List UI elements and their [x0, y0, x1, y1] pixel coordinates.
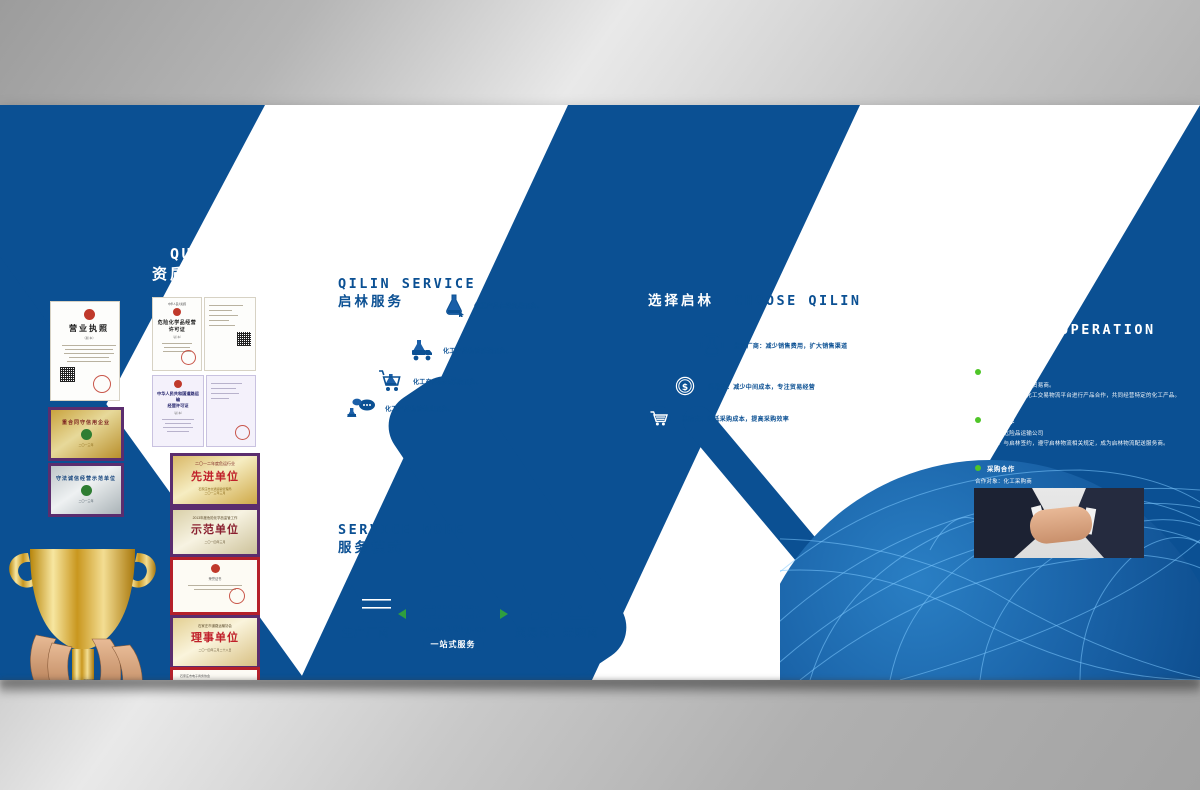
choose-item-0[interactable]: 生产厂商：减少销售费用，扩大销售渠道	[700, 333, 847, 357]
handshake-photo	[974, 488, 1144, 558]
cart-flask-icon	[514, 583, 600, 623]
service-item-1[interactable]: 化工产品物流配送服务。	[408, 339, 512, 361]
cooperation-title-cn: 启林合作	[975, 340, 1156, 357]
flow-left-label: 生产厂商	[342, 624, 390, 640]
qilin-cooperation-heading: QILIN COOPERATION 启林合作	[975, 323, 1156, 357]
certificate-council-unit[interactable]: 石家庄市道路运输协会 理事单位 二〇一四年三月二十八日	[170, 615, 260, 669]
choose-qilin-title-en: CHOOSE QILIN	[734, 294, 862, 308]
service-mode-heading: SERVICE MODE 服务模式	[338, 523, 466, 556]
certificate-membership[interactable]: 石家庄市电子商务协会	[170, 667, 260, 680]
certificate-plaque-silver[interactable]: 守法诚信经营示范单位 二〇一三年	[48, 463, 124, 517]
bullet-dot-icon	[975, 369, 981, 375]
service-item-3[interactable]: 化工产品物流信息服务。	[346, 397, 454, 419]
arrow-right-icon	[500, 609, 508, 619]
choose-item-1-text: 贸易商：减少中间成本，专注贸易经营	[708, 382, 815, 391]
choose-item-2-text: 采购商：降低采购成本，提高采购效率	[682, 414, 789, 423]
qualification-title-en: QUALIFICATION	[170, 247, 353, 263]
cooperation-title-en: QILIN COOPERATION	[975, 323, 1156, 337]
certificate-advanced-unit[interactable]: 二〇一二年度危运行业 先进单位 石家庄市交通运输管理局 二〇一三年三月	[170, 453, 260, 507]
cooperation-block-2-name: 采购合作	[987, 463, 1015, 473]
cooperation-block-1-line-1: 合作方式：与启林签约，遵守启林物流相关规定，成为启林物流配送服务商。	[975, 439, 1185, 449]
flask-circle-icon	[700, 333, 724, 357]
chat-flask-icon	[346, 397, 376, 419]
certificate-honor[interactable]: 荣誉证书	[170, 557, 260, 615]
service-item-2[interactable]: 化工产品委托采购服务。	[378, 369, 482, 393]
choose-item-2[interactable]: 采购商：降低采购成本，提高采购效率	[646, 405, 789, 431]
bullet-dot-icon	[975, 417, 981, 423]
certificate-demo-unit[interactable]: 2013年度危险化学品监管工作 示范单位 二〇一四年三月	[170, 507, 260, 557]
choose-qilin-title-cn: 选择启林	[648, 293, 714, 309]
certificate-permit-1-page2[interactable]	[204, 297, 256, 371]
arrow-left-icon	[398, 609, 406, 619]
cart-circle-icon	[646, 405, 672, 431]
dollar-circle-icon: $	[672, 373, 698, 399]
flow-center-url: www.70hg.cn	[420, 625, 487, 635]
cooperation-block-1[interactable]: 物流合作 合作对象：危险品运输公司 合作方式：与启林签约，遵守启林物流相关规定，…	[975, 415, 1185, 450]
flow-step-buyer[interactable]: 贸易商、采购商	[514, 583, 600, 640]
service-item-2-text: 化工产品委托采购服务。	[413, 377, 482, 386]
certificate-business-license[interactable]: 营业执照 （副 本）	[50, 301, 120, 401]
poster-artboard: QUALIFICATION 资质证书 CERTIFICATE 营业执照 （副 本…	[0, 105, 1200, 680]
qualification-title-en2: CERTIFICATE	[232, 265, 353, 283]
service-mode-flow: 生产厂商 www.70hg.cn 一站式服务	[340, 583, 600, 651]
svg-text:$: $	[682, 383, 688, 393]
clasped-hands	[1028, 505, 1093, 545]
choose-item-1[interactable]: $ 贸易商：减少中间成本，专注贸易经营	[672, 373, 815, 399]
truck-flask-icon	[408, 339, 434, 361]
cooperation-block-1-name: 物流合作	[987, 415, 1015, 425]
certificate-plaque-gold[interactable]: 重合同守信用企业 二〇一三年	[48, 407, 124, 461]
cooperation-block-0-line-0: 合作对象：生产厂家、贸易商。	[975, 381, 1185, 391]
choose-item-0-text: 生产厂商：减少销售费用，扩大销售渠道	[734, 341, 847, 350]
qilin-service-title-en: QILIN SERVICE	[338, 277, 476, 291]
choose-qilin-heading: 选择启林 CHOOSE QILIN	[648, 293, 862, 309]
service-mode-title-en: SERVICE MODE	[338, 523, 466, 537]
service-item-0-text: 化工产品在线交易服务。	[474, 301, 543, 310]
poster-stage: QUALIFICATION 资质证书 CERTIFICATE 营业执照 （副 本…	[0, 0, 1200, 790]
flask-click-icon	[443, 293, 465, 317]
bullet-dot-icon	[975, 465, 981, 471]
service-item-1-text: 化工产品物流配送服务。	[443, 346, 512, 355]
service-mode-title-cn: 服务模式	[338, 540, 466, 556]
flow-right-label: 贸易商、采购商	[515, 624, 599, 640]
flow-center-badge: 一站式服务	[423, 637, 484, 651]
certificate-permit-2-page2[interactable]	[206, 375, 256, 447]
service-item-3-text: 化工产品物流信息服务。	[385, 404, 454, 413]
qualification-title-cn: 资质证书	[152, 265, 224, 283]
factory-icon	[340, 583, 392, 623]
certificate-permit-2[interactable]: 中华人民共和国道路运输经营许可证 （副 本）	[152, 375, 204, 447]
service-item-0[interactable]: 化工产品在线交易服务。	[443, 293, 543, 317]
cooperation-block-1-line-0: 合作对象：危险品运输公司	[975, 429, 1185, 439]
flow-step-platform[interactable]: www.70hg.cn 一站式服务	[414, 583, 492, 651]
cooperation-block-0-name: 产品合作	[987, 367, 1015, 377]
tanker-truck-conveyor-icon	[414, 583, 492, 625]
qualification-heading: QUALIFICATION 资质证书 CERTIFICATE	[152, 247, 353, 283]
cooperation-block-0[interactable]: 产品合作 合作对象：生产厂家、贸易商。 合作方式：利用启林化工交易物流平台进行产…	[975, 367, 1185, 402]
trophy-hands-photo	[0, 535, 175, 680]
certificate-permit-1[interactable]: 中华人民共和国 危险化学品经营许可证 （副 本）	[152, 297, 202, 371]
cart-flask-icon	[378, 369, 404, 393]
flow-step-producer[interactable]: 生产厂商	[340, 583, 392, 640]
artboard-drop-shadow	[0, 680, 1200, 696]
cooperation-block-0-line-1: 合作方式：利用启林化工交易物流平台进行产品合作，共同经营特定的化工产品。	[975, 391, 1185, 401]
cooperation-block-2-line-0: 合作对象：化工采购商	[975, 477, 1185, 487]
